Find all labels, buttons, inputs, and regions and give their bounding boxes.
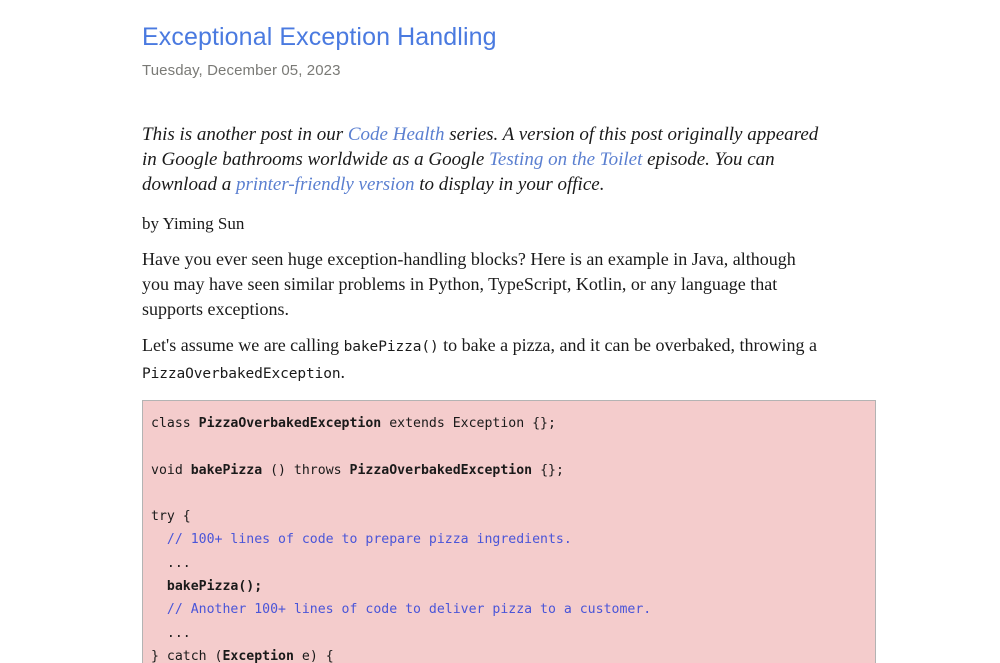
code-line (151, 435, 865, 458)
code-line: // Another 100+ lines of code to deliver… (151, 598, 865, 621)
code-token-identifier: Exception (222, 649, 293, 663)
code-token-plain (151, 579, 167, 594)
code-token-plain (151, 532, 167, 547)
intro-note: This is another post in our Code Health … (142, 79, 822, 197)
code-line: ... (151, 622, 865, 645)
code-token-identifier: bakePizza(); (167, 579, 262, 594)
code-line: } catch (Exception e) { (151, 645, 865, 663)
code-token-plain (151, 602, 167, 617)
inline-code-bakepizza: bakePizza() (344, 339, 439, 355)
code-token-identifier: PizzaOverbakedException (350, 463, 533, 478)
code-line: // 100+ lines of code to prepare pizza i… (151, 528, 865, 551)
blog-post-page: Exceptional Exception Handling Tuesday, … (0, 0, 1000, 663)
code-line: bakePizza(); (151, 575, 865, 598)
code-token-identifier: bakePizza (191, 463, 262, 478)
code-token-plain: } catch ( (151, 649, 222, 663)
code-token-comment: // 100+ lines of code to prepare pizza i… (167, 532, 572, 547)
inline-code-pizzaoverbakedexception: PizzaOverbakedException (142, 366, 340, 382)
body-paragraph-1: Have you ever seen huge exception-handli… (142, 235, 822, 322)
code-token-plain: extends Exception {}; (381, 416, 556, 431)
code-token-plain: try { (151, 509, 191, 524)
testing-on-the-toilet-link[interactable]: Testing on the Toilet (489, 149, 642, 170)
code-line (151, 482, 865, 505)
paragraph2-segment-1: Let's assume we are calling (142, 335, 344, 355)
paragraph2-segment-3: . (340, 362, 345, 382)
code-line: class PizzaOverbakedException extends Ex… (151, 412, 865, 435)
post-date: Tuesday, December 05, 2023 (142, 52, 882, 79)
code-token-plain: void (151, 463, 191, 478)
intro-text-segment-4: to display in your office. (414, 174, 604, 195)
page-title: Exceptional Exception Handling (142, 0, 882, 52)
intro-text-segment-1: This is another post in our (142, 124, 348, 145)
author-byline: by Yiming Sun (142, 197, 882, 235)
code-token-plain: () throws (262, 463, 349, 478)
code-token-plain: e) { (294, 649, 334, 663)
code-token-comment: // Another 100+ lines of code to deliver… (167, 602, 651, 617)
code-sample-block: class PizzaOverbakedException extends Ex… (142, 400, 876, 663)
code-token-plain: class (151, 416, 199, 431)
code-health-link[interactable]: Code Health (348, 124, 445, 145)
code-token-plain: ... (151, 626, 191, 641)
code-line: void bakePizza () throws PizzaOverbakedE… (151, 459, 865, 482)
code-token-plain: ... (151, 556, 191, 571)
printer-friendly-version-link[interactable]: printer-friendly version (236, 174, 415, 195)
paragraph2-segment-2: to bake a pizza, and it can be overbaked… (439, 335, 817, 355)
post-content-column: Exceptional Exception Handling Tuesday, … (142, 0, 882, 663)
code-line: ... (151, 552, 865, 575)
code-token-identifier: PizzaOverbakedException (199, 416, 382, 431)
code-line: try { (151, 505, 865, 528)
body-paragraph-2: Let's assume we are calling bakePizza() … (142, 322, 822, 387)
code-token-plain: {}; (532, 463, 564, 478)
